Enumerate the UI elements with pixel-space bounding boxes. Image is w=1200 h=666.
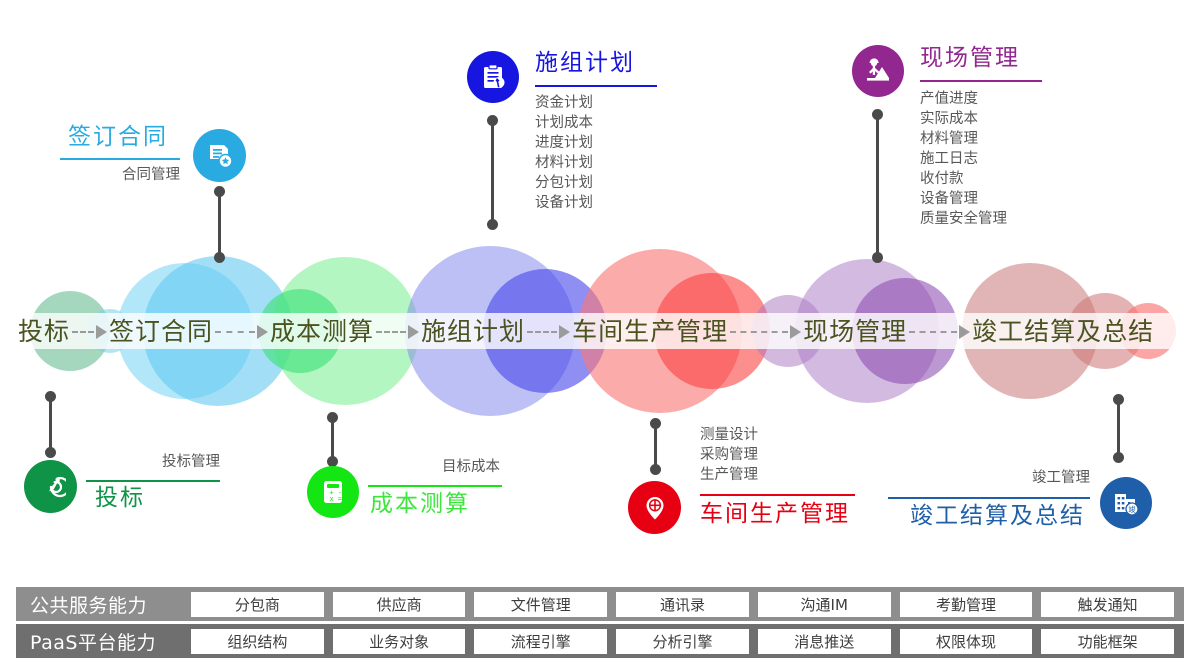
stem-dot-top bbox=[487, 115, 498, 126]
timeline-step-7[interactable]: 竣工结算及总结 bbox=[972, 319, 1154, 344]
callout-title-site: 现场管理 bbox=[920, 47, 1020, 70]
capability-table: 公共服务能力 分包商供应商文件管理通讯录沟通IM考勤管理触发通知 PaaS平台能… bbox=[16, 587, 1184, 661]
callout-rule bbox=[535, 85, 657, 87]
timeline-step-5[interactable]: 车间生产管理 bbox=[572, 319, 728, 344]
workshop-item: 生产管理 bbox=[700, 465, 758, 485]
callout-stem bbox=[1117, 398, 1120, 456]
svg-text:x =: x = bbox=[330, 495, 343, 503]
capability-cell[interactable]: 考勤管理 bbox=[900, 592, 1033, 617]
capability-cells: 分包商供应商文件管理通讯录沟通IM考勤管理触发通知 bbox=[191, 592, 1184, 617]
plan-item: 进度计划 bbox=[535, 133, 593, 153]
callout-rule bbox=[920, 80, 1042, 82]
callout-item: 投标管理 bbox=[75, 452, 220, 472]
callout-rule bbox=[60, 158, 180, 160]
stem-dot-bottom bbox=[487, 219, 498, 230]
target-dart-icon[interactable] bbox=[24, 460, 77, 513]
stem-dot-bottom bbox=[650, 464, 661, 475]
site-item: 材料管理 bbox=[920, 129, 1007, 149]
workshop-item: 测量设计 bbox=[700, 425, 758, 445]
capability-cell[interactable]: 功能框架 bbox=[1041, 629, 1174, 654]
timeline-arrow-6 bbox=[909, 324, 970, 338]
stem-dot-top bbox=[45, 391, 56, 402]
timeline-step-2[interactable]: 签订合同 bbox=[109, 319, 213, 344]
capability-cell[interactable]: 消息推送 bbox=[758, 629, 891, 654]
callout-title-final: 竣工结算及总结 bbox=[910, 505, 1085, 528]
callout-stem bbox=[876, 113, 879, 256]
site-item: 质量安全管理 bbox=[920, 209, 1007, 229]
building-complete-icon[interactable]: 竣 bbox=[1100, 477, 1152, 529]
callout-rule bbox=[368, 485, 502, 487]
site-item: 收付款 bbox=[920, 169, 1007, 189]
timeline-step-1[interactable]: 投标 bbox=[18, 319, 70, 344]
callout-item: 竣工管理 bbox=[930, 468, 1090, 488]
callout-title-workshop: 车间生产管理 bbox=[700, 503, 850, 526]
callout-stem bbox=[491, 119, 494, 223]
plan-item: 分包计划 bbox=[535, 173, 593, 193]
plan-item: 资金计划 bbox=[535, 93, 593, 113]
capability-cell[interactable]: 分析引擎 bbox=[616, 629, 749, 654]
timeline-arrow-2 bbox=[215, 324, 268, 338]
timeline-arrow-5 bbox=[730, 324, 801, 338]
callout-title-cost: 成本测算 bbox=[370, 493, 470, 516]
stem-dot-bottom bbox=[45, 447, 56, 458]
stem-dot-bottom bbox=[872, 252, 883, 263]
process-timeline: 投标签订合同成本测算施组计划车间生产管理现场管理竣工结算及总结 bbox=[18, 313, 1184, 349]
location-pin-icon[interactable] bbox=[628, 481, 681, 534]
callout-title-contract: 签订合同 bbox=[68, 126, 168, 149]
capability-row-label: PaaS平台能力 bbox=[16, 628, 191, 655]
callout-item: 合同管理 bbox=[40, 165, 180, 185]
callout-rule bbox=[86, 480, 220, 482]
plan-item: 计划成本 bbox=[535, 113, 593, 133]
construction-worker-icon[interactable] bbox=[852, 45, 904, 97]
diagram-canvas: 投标签订合同成本测算施组计划车间生产管理现场管理竣工结算及总结 签订合同 合同管… bbox=[0, 0, 1200, 666]
capability-row-paas: PaaS平台能力 组织结构业务对象流程引擎分析引擎消息推送权限体现功能框架 bbox=[16, 624, 1184, 658]
site-item: 施工日志 bbox=[920, 149, 1007, 169]
callout-rule bbox=[700, 494, 855, 496]
capability-cell[interactable]: 权限体现 bbox=[900, 629, 1033, 654]
callout-rule bbox=[888, 497, 1090, 499]
callout-title-tender: 投标 bbox=[95, 487, 145, 510]
workshop-item: 采购管理 bbox=[700, 445, 758, 465]
capability-cell[interactable]: 触发通知 bbox=[1041, 592, 1174, 617]
stem-dot-bottom bbox=[1113, 452, 1124, 463]
timeline-step-3[interactable]: 成本测算 bbox=[270, 319, 374, 344]
clipboard-plan-icon[interactable] bbox=[467, 51, 519, 103]
timeline-step-4[interactable]: 施组计划 bbox=[421, 319, 525, 344]
stem-dot-top bbox=[1113, 394, 1124, 405]
callout-stem bbox=[218, 190, 221, 256]
capability-cell[interactable]: 沟通IM bbox=[758, 592, 891, 617]
callout-items-plan: 资金计划计划成本进度计划材料计划分包计划设备计划 bbox=[535, 93, 593, 213]
capability-cell[interactable]: 流程引擎 bbox=[474, 629, 607, 654]
capability-cell[interactable]: 分包商 bbox=[191, 592, 324, 617]
capability-row-label: 公共服务能力 bbox=[16, 591, 191, 618]
plan-item: 材料计划 bbox=[535, 153, 593, 173]
timeline-arrow-3 bbox=[376, 324, 419, 338]
callout-items-site: 产值进度实际成本材料管理施工日志收付款设备管理质量安全管理 bbox=[920, 89, 1007, 229]
callout-title-plan: 施组计划 bbox=[535, 52, 635, 75]
capability-cell[interactable]: 组织结构 bbox=[191, 629, 324, 654]
site-item: 产值进度 bbox=[920, 89, 1007, 109]
capability-row-public: 公共服务能力 分包商供应商文件管理通讯录沟通IM考勤管理触发通知 bbox=[16, 587, 1184, 621]
callout-items-workshop: 测量设计采购管理生产管理 bbox=[700, 425, 758, 485]
svg-text:竣: 竣 bbox=[1128, 504, 1136, 514]
capability-cell[interactable]: 通讯录 bbox=[616, 592, 749, 617]
stem-dot-top bbox=[214, 186, 225, 197]
contract-document-icon[interactable] bbox=[193, 129, 246, 182]
site-item: 设备管理 bbox=[920, 189, 1007, 209]
capability-cell[interactable]: 文件管理 bbox=[474, 592, 607, 617]
stem-dot-top bbox=[872, 109, 883, 120]
callout-item: 目标成本 bbox=[355, 457, 500, 477]
site-item: 实际成本 bbox=[920, 109, 1007, 129]
stem-dot-top bbox=[650, 418, 661, 429]
plan-item: 设备计划 bbox=[535, 193, 593, 213]
timeline-arrow-1 bbox=[72, 324, 107, 338]
capability-cell[interactable]: 业务对象 bbox=[333, 629, 466, 654]
callout-stem bbox=[49, 395, 52, 451]
stem-dot-top bbox=[327, 412, 338, 423]
capability-cells: 组织结构业务对象流程引擎分析引擎消息推送权限体现功能框架 bbox=[191, 629, 1184, 654]
calculator-icon[interactable]: + - x = bbox=[307, 466, 359, 518]
capability-cell[interactable]: 供应商 bbox=[333, 592, 466, 617]
timeline-arrow-4 bbox=[527, 324, 570, 338]
stem-dot-bottom bbox=[214, 252, 225, 263]
timeline-step-6[interactable]: 现场管理 bbox=[803, 319, 907, 344]
